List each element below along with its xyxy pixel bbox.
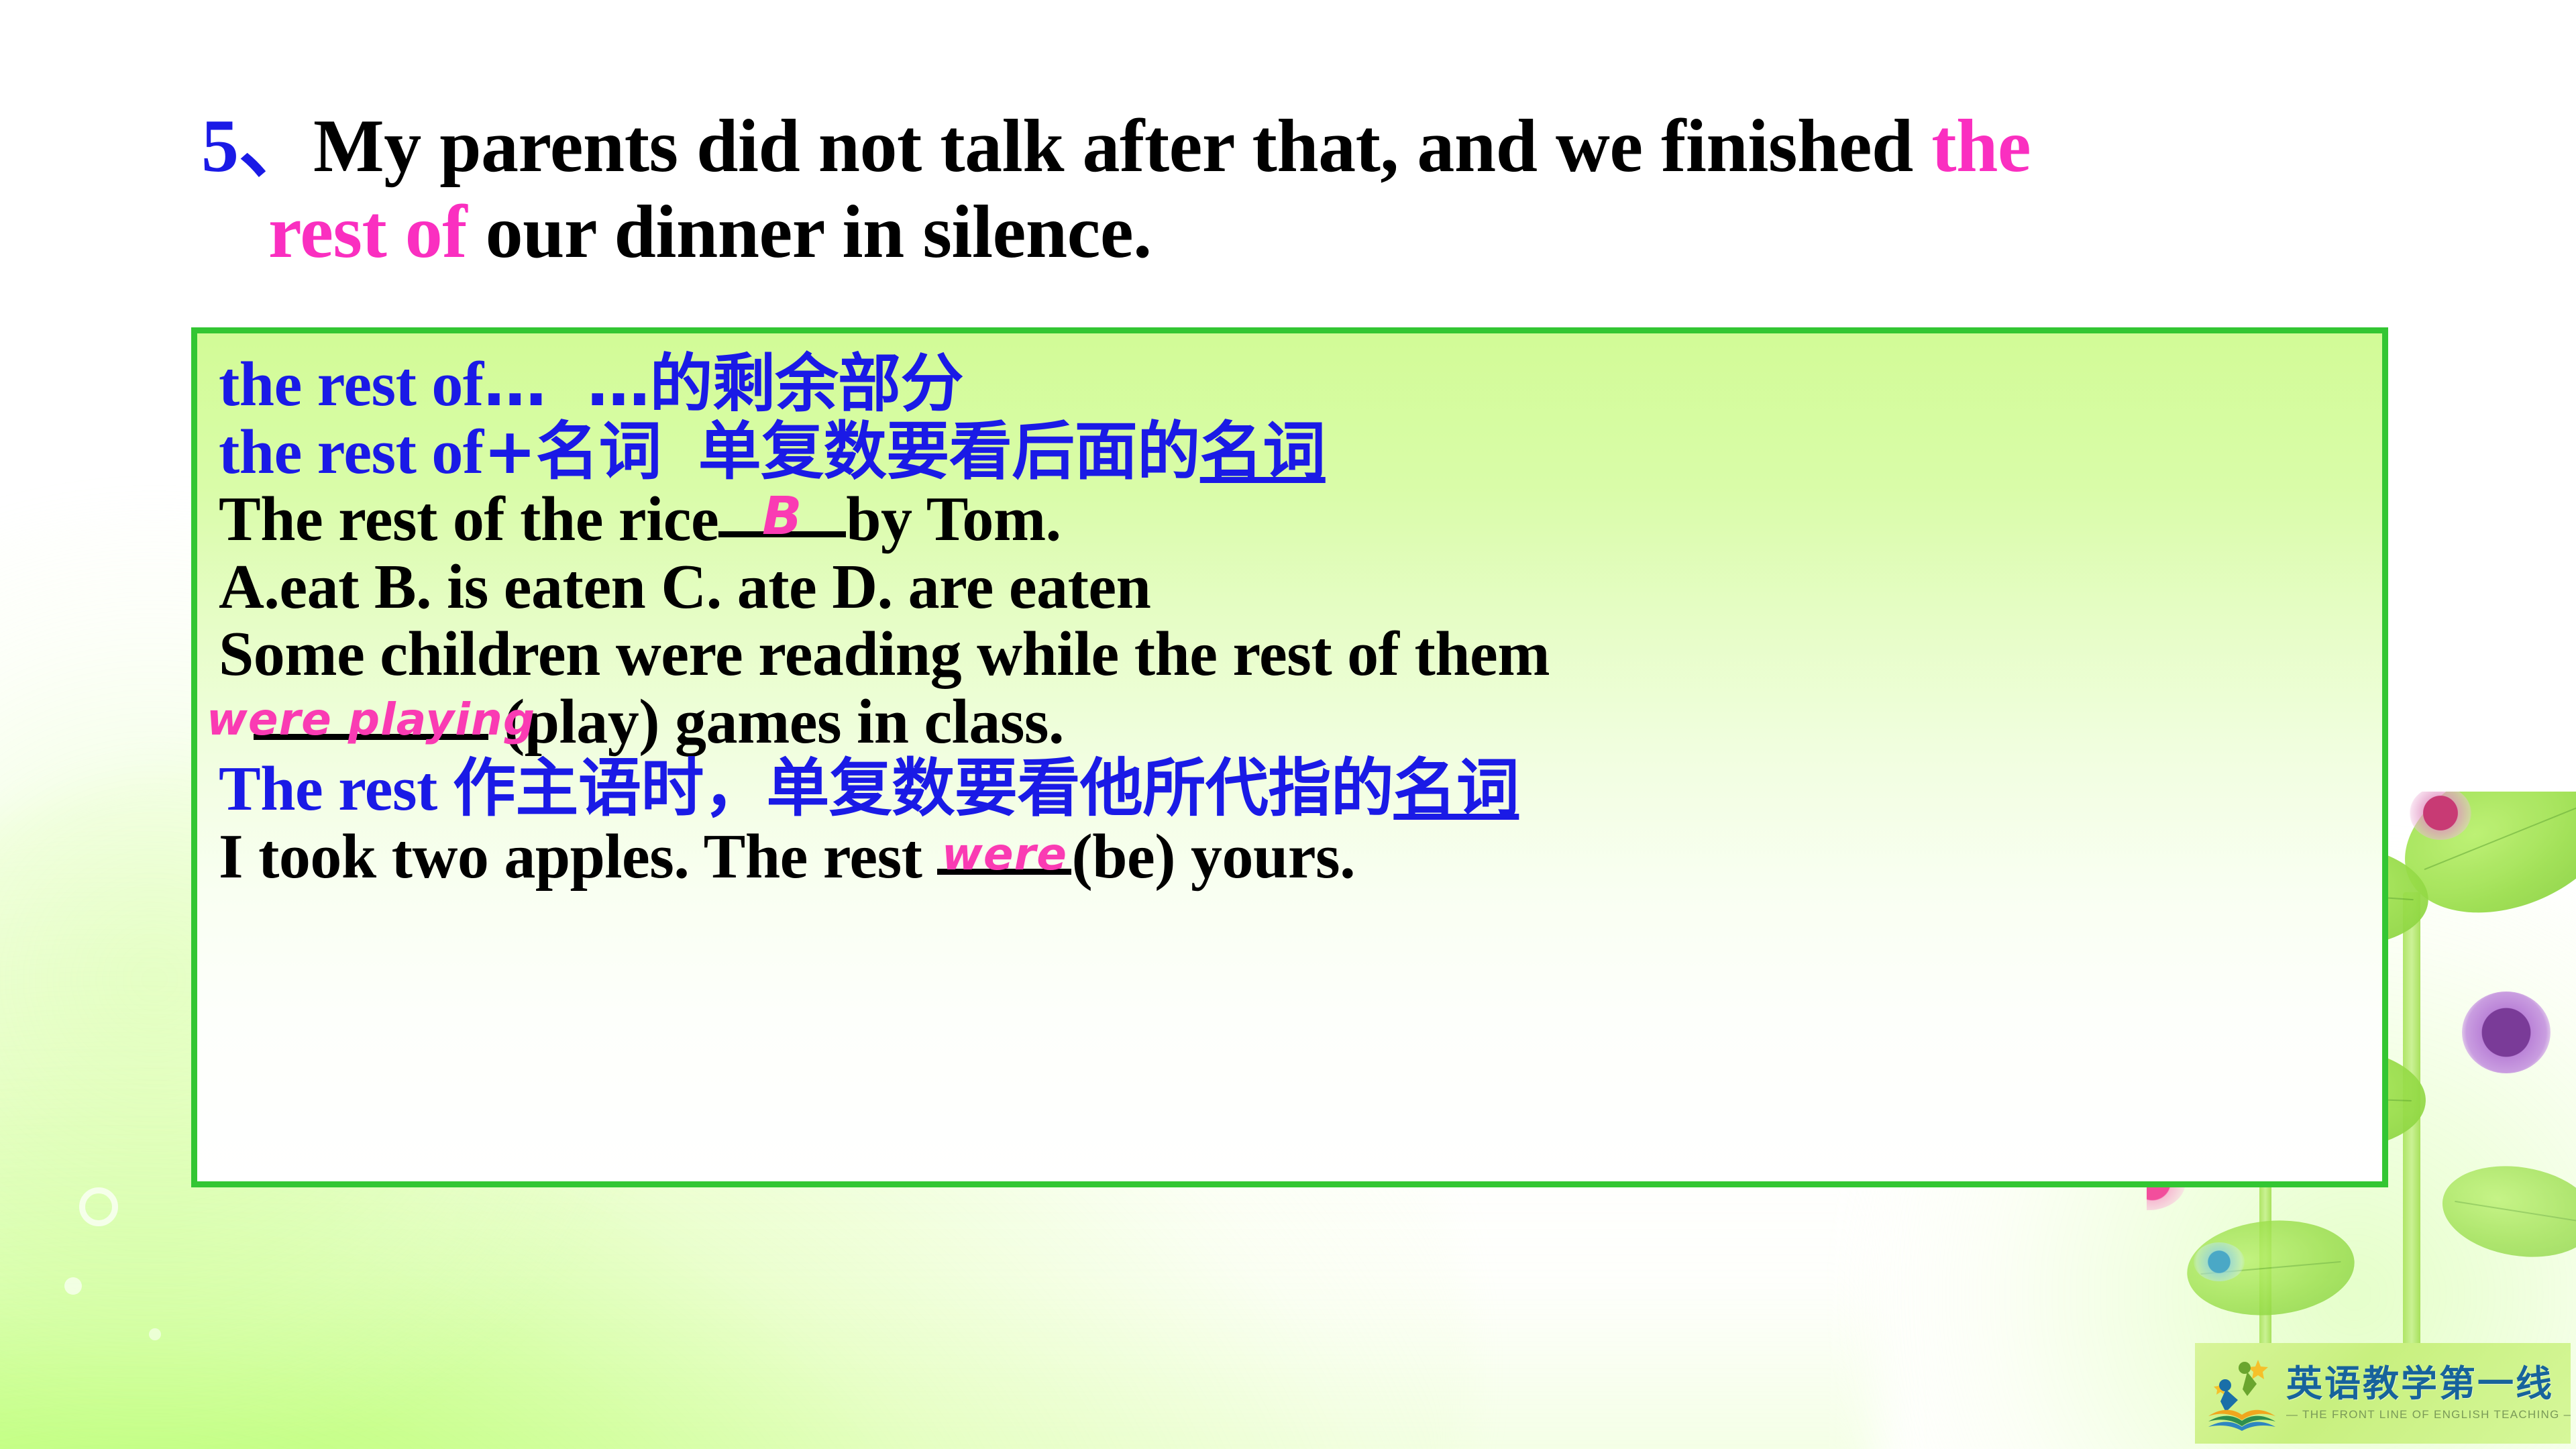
brand-logo: 英语教学第一线 — THE FRONT LINE OF ENGLISH TEAC… [2195, 1343, 2571, 1444]
rule-noun-line: the rest of+名词 单复数要看后面的名词 [219, 419, 2382, 486]
rule-noun-cn: 单复数要看后面的 [698, 415, 1200, 488]
exercise-3-stem-after: (be) yours. [1071, 822, 1355, 892]
rule-subject-line: The rest 作主语时，单复数要看他所代指的名词 [219, 755, 2382, 823]
rule-subject-cn: 作主语时，单复数要看他所代指的 [453, 752, 1394, 825]
exercise-2-answer: were playing [207, 696, 535, 744]
exercise-1-options: A.eat B. is eaten C. ate D. are eaten [219, 553, 2382, 621]
rule-meaning-cn: 的剩余部分 [649, 347, 963, 421]
rule-meaning-en: the rest of [219, 350, 484, 419]
exercise-1-stem-after: by Tom. [846, 484, 1061, 554]
exercise-2-line1: Some children were reading while the res… [219, 621, 2382, 688]
grammar-box: the rest of… …的剩余部分 the rest of+名词 单复数要看… [191, 327, 2388, 1187]
rule-noun-en: the rest of [219, 417, 484, 487]
exercise-3-blank[interactable]: were [937, 823, 1071, 891]
question-text-line2: our dinner in silence. [467, 191, 1152, 274]
rule-meaning-ellipsis-2: … [587, 347, 650, 421]
question-heading: 5、My parents did not talk after that, an… [201, 104, 2214, 275]
logo-text: 英语教学第一线 — THE FRONT LINE OF ENGLISH TEAC… [2286, 1366, 2571, 1421]
rule-noun-cn-underlined: 名词 [1200, 415, 1326, 488]
rule-meaning-ellipsis-1: … [484, 347, 547, 421]
background-bubble [79, 1187, 118, 1226]
logo-figure-book-icon [2206, 1354, 2279, 1432]
exercise-3-stem-before: I took two apples. The rest [219, 822, 937, 892]
logo-mark-icon [2206, 1354, 2279, 1432]
background-bubble [149, 1328, 161, 1340]
question-text-line1: My parents did not talk after that, and … [313, 105, 1931, 188]
rule-subject-en: The rest [219, 754, 453, 824]
question-highlight-rest-of: rest of [268, 191, 467, 274]
exercise-1-blank[interactable]: B [718, 486, 846, 553]
rule-noun-plus: +名词 [484, 415, 661, 488]
question-highlight-the: the [1931, 105, 2031, 188]
exercise-2-line2-after: (play) games in class. [488, 687, 1064, 757]
exercise-1-stem: The rest of the riceBby Tom. [219, 486, 2382, 553]
question-heading-line2: rest of our dinner in silence. [201, 190, 2214, 276]
exercise-3-line: I took two apples. The rest were(be) you… [219, 823, 2382, 891]
exercise-2-line2: were playing (play) games in class. [219, 688, 2382, 756]
logo-cn-name: 英语教学第一线 [2286, 1366, 2571, 1402]
exercise-1-answer: B [762, 489, 802, 545]
exercise-3-answer: were [942, 831, 1067, 879]
exercise-1-stem-before: The rest of the rice [219, 484, 718, 554]
question-number: 5、 [201, 105, 313, 188]
exercise-2-blank[interactable]: were playing [254, 688, 488, 756]
background-bubble [64, 1277, 82, 1295]
logo-en-name: — THE FRONT LINE OF ENGLISH TEACHING — [2286, 1408, 2571, 1421]
rule-meaning-line: the rest of… …的剩余部分 [219, 351, 2382, 419]
rule-subject-cn-underlined: 名词 [1393, 752, 1519, 825]
